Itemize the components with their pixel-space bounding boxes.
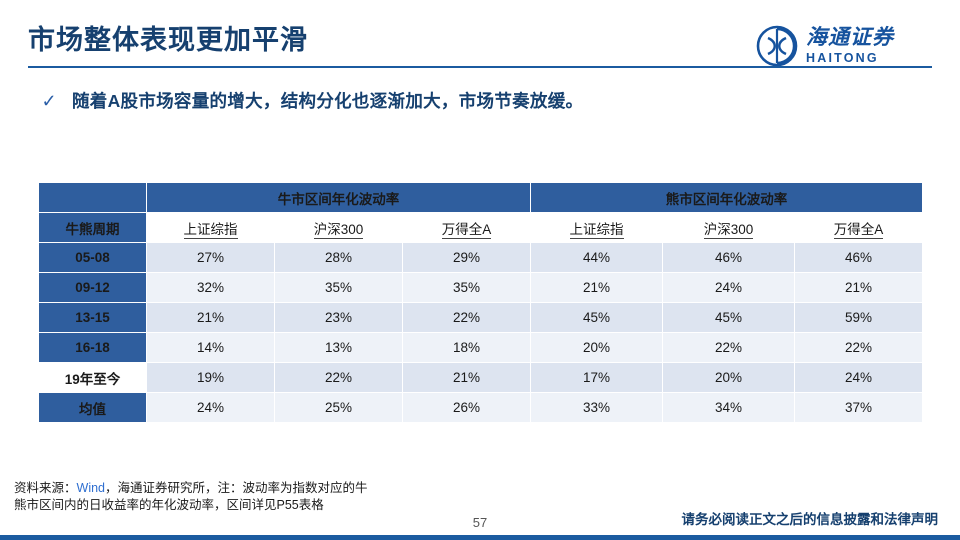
- cell-0-0: 27%: [147, 243, 275, 273]
- check-icon: ✓: [40, 92, 58, 110]
- table-corner-label: 牛熊周期: [39, 213, 147, 243]
- cell-5-1: 25%: [275, 393, 403, 423]
- subheader-3-text: 上证综指: [570, 222, 624, 239]
- subheader-5-text: 万得全A: [834, 222, 884, 239]
- footnote-line2: 熊市区间内的日收益率的年化波动率，区间详见P55表格: [14, 498, 324, 512]
- subheader-1: 沪深300: [275, 213, 403, 243]
- table-group-header-row: 牛市区间年化波动率 熊市区间年化波动率: [39, 183, 923, 213]
- table-row: 16-18 14% 13% 18% 20% 22% 22%: [39, 333, 923, 363]
- cell-3-0: 14%: [147, 333, 275, 363]
- source-footnote: 资料来源：Wind，海通证券研究所，注：波动率为指数对应的牛 熊市区间内的日收益…: [14, 480, 574, 514]
- cell-4-3: 17%: [531, 363, 663, 393]
- cell-5-3: 33%: [531, 393, 663, 423]
- subheader-4-text: 沪深300: [704, 222, 754, 239]
- cell-0-1: 28%: [275, 243, 403, 273]
- subheader-0-text: 上证综指: [184, 222, 238, 239]
- row-label-0: 05-08: [39, 243, 147, 273]
- bullet-text: 随着A股市场容量的增大，结构分化也逐渐加大，市场节奏放缓。: [72, 88, 583, 113]
- cell-1-5: 21%: [795, 273, 923, 303]
- cell-2-3: 45%: [531, 303, 663, 333]
- row-label-5: 均值: [39, 393, 147, 423]
- title-bar: 市场整体表现更加平滑: [28, 20, 728, 72]
- cell-2-2: 22%: [403, 303, 531, 333]
- footnote-suffix: ，海通证券研究所，注：波动率为指数对应的牛: [105, 481, 368, 495]
- page-title: 市场整体表现更加平滑: [28, 20, 728, 60]
- table-row: 13-15 21% 23% 22% 45% 45% 59%: [39, 303, 923, 333]
- cell-3-3: 20%: [531, 333, 663, 363]
- cell-1-3: 21%: [531, 273, 663, 303]
- cell-3-1: 13%: [275, 333, 403, 363]
- volatility-table-wrap: 牛市区间年化波动率 熊市区间年化波动率 牛熊周期 上证综指 沪深300 万得全A…: [38, 182, 922, 423]
- logo-name-cn: 海通证券: [806, 27, 894, 48]
- group-header-bear: 熊市区间年化波动率: [531, 183, 923, 213]
- cell-2-4: 45%: [663, 303, 795, 333]
- row-label-1: 09-12: [39, 273, 147, 303]
- cell-2-5: 59%: [795, 303, 923, 333]
- bullet-row: ✓ 随着A股市场容量的增大，结构分化也逐渐加大，市场节奏放缓。: [40, 88, 583, 113]
- cell-0-2: 29%: [403, 243, 531, 273]
- subheader-4: 沪深300: [663, 213, 795, 243]
- table-subheader-row: 牛熊周期 上证综指 沪深300 万得全A 上证综指 沪深300 万得全A: [39, 213, 923, 243]
- table-row: 09-12 32% 35% 35% 21% 24% 21%: [39, 273, 923, 303]
- cell-1-1: 35%: [275, 273, 403, 303]
- logo-name-en: HAITONG: [806, 52, 894, 65]
- footnote-link-wind[interactable]: Wind: [77, 481, 105, 495]
- footnote-prefix: 资料来源：: [14, 481, 77, 495]
- slide-root: 市场整体表现更加平滑 海通证券 HAITONG ✓ 随着A股市场容量的增大，结构…: [0, 0, 960, 540]
- table-corner-blank: [39, 183, 147, 213]
- cell-2-0: 21%: [147, 303, 275, 333]
- row-label-4: 19年至今: [39, 363, 147, 393]
- cell-0-5: 46%: [795, 243, 923, 273]
- subheader-5: 万得全A: [795, 213, 923, 243]
- subheader-3: 上证综指: [531, 213, 663, 243]
- bottom-accent-bar: [0, 535, 960, 540]
- table-row: 19年至今 19% 22% 21% 17% 20% 24%: [39, 363, 923, 393]
- subheader-0: 上证综指: [147, 213, 275, 243]
- cell-4-1: 22%: [275, 363, 403, 393]
- logo-text-block: 海通证券 HAITONG: [806, 27, 894, 65]
- cell-0-4: 46%: [663, 243, 795, 273]
- volatility-table: 牛市区间年化波动率 熊市区间年化波动率 牛熊周期 上证综指 沪深300 万得全A…: [38, 182, 923, 423]
- cell-4-5: 24%: [795, 363, 923, 393]
- brand-logo: 海通证券 HAITONG: [756, 22, 934, 70]
- cell-0-3: 44%: [531, 243, 663, 273]
- cell-5-5: 37%: [795, 393, 923, 423]
- disclaimer-text: 请务必阅读正文之后的信息披露和法律声明: [682, 508, 939, 528]
- cell-5-0: 24%: [147, 393, 275, 423]
- cell-4-2: 21%: [403, 363, 531, 393]
- cell-1-0: 32%: [147, 273, 275, 303]
- subheader-2-text: 万得全A: [442, 222, 492, 239]
- row-label-3: 16-18: [39, 333, 147, 363]
- subheader-2: 万得全A: [403, 213, 531, 243]
- cell-3-5: 22%: [795, 333, 923, 363]
- group-header-bull: 牛市区间年化波动率: [147, 183, 531, 213]
- row-label-2: 13-15: [39, 303, 147, 333]
- cell-5-2: 26%: [403, 393, 531, 423]
- haitong-logo-icon: [756, 25, 798, 67]
- cell-3-4: 22%: [663, 333, 795, 363]
- cell-4-0: 19%: [147, 363, 275, 393]
- table-row: 05-08 27% 28% 29% 44% 46% 46%: [39, 243, 923, 273]
- cell-1-4: 24%: [663, 273, 795, 303]
- subheader-1-text: 沪深300: [314, 222, 364, 239]
- cell-1-2: 35%: [403, 273, 531, 303]
- cell-2-1: 23%: [275, 303, 403, 333]
- cell-5-4: 34%: [663, 393, 795, 423]
- table-row: 均值 24% 25% 26% 33% 34% 37%: [39, 393, 923, 423]
- cell-4-4: 20%: [663, 363, 795, 393]
- cell-3-2: 18%: [403, 333, 531, 363]
